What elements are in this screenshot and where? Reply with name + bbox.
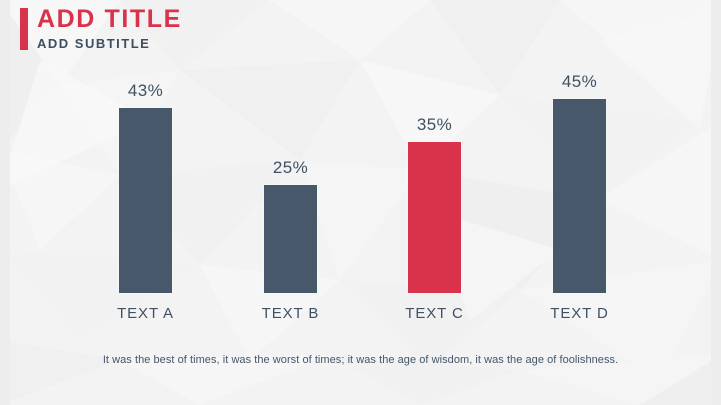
bar-value-label: 25% <box>264 158 317 178</box>
slide-canvas: ADD TITLE ADD SUBTITLE 43%TEXT A25%TEXT … <box>0 0 721 405</box>
bar-value-label: 43% <box>119 81 172 101</box>
bar-category-label: TEXT D <box>520 305 640 322</box>
bar-chart: 43%TEXT A25%TEXT B35%TEXT C45%TEXT D <box>0 0 721 405</box>
caption-text: It was the best of times, it was the wor… <box>0 354 721 366</box>
bar-rect[interactable] <box>264 185 317 293</box>
bar-category-label: TEXT C <box>375 305 495 322</box>
bar-category-label: TEXT A <box>86 305 206 322</box>
bar-rect[interactable] <box>408 142 461 293</box>
bar-group: 35%TEXT C <box>408 0 461 405</box>
bar-group: 43%TEXT A <box>119 0 172 405</box>
bar-category-label: TEXT B <box>231 305 351 322</box>
bar-rect[interactable] <box>553 99 606 293</box>
bar-group: 25%TEXT B <box>264 0 317 405</box>
bar-group: 45%TEXT D <box>553 0 606 405</box>
bar-value-label: 35% <box>408 115 461 135</box>
bar-rect[interactable] <box>119 108 172 293</box>
bar-value-label: 45% <box>553 72 606 92</box>
